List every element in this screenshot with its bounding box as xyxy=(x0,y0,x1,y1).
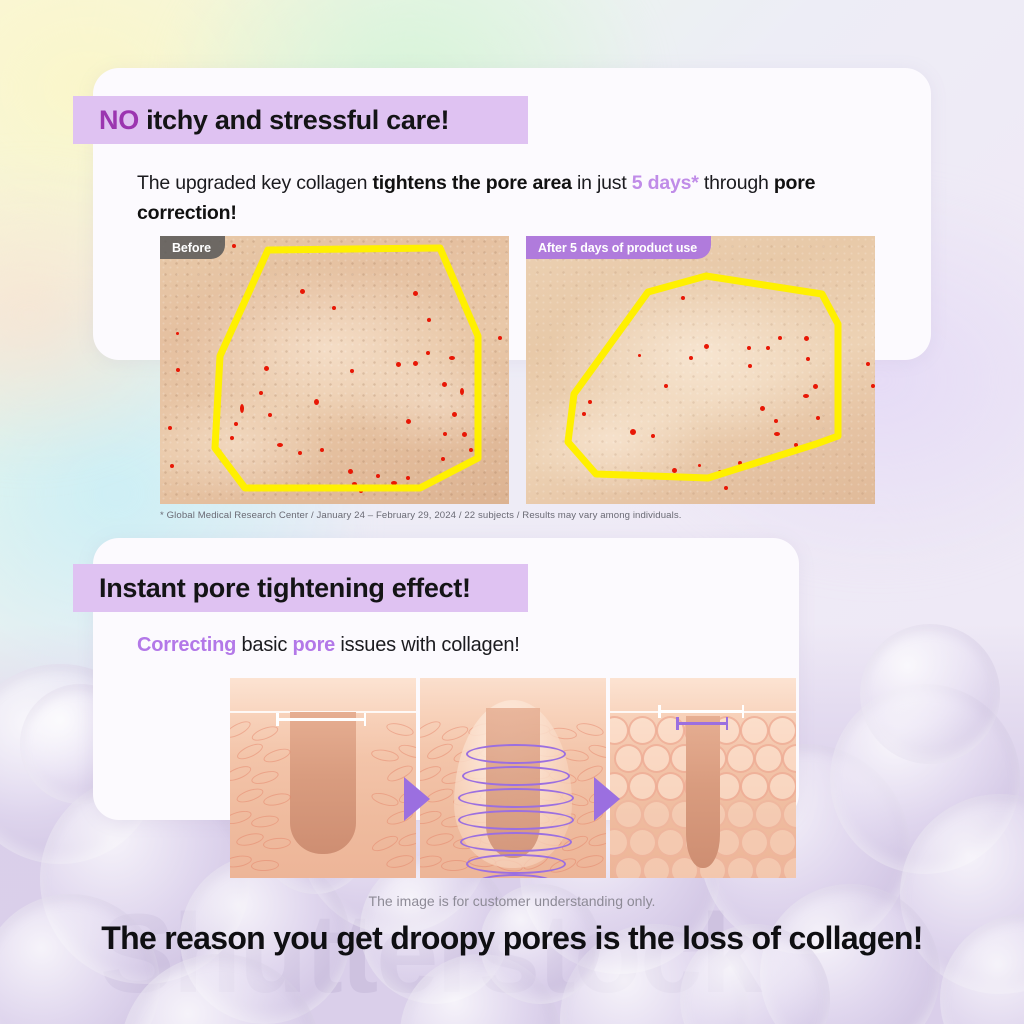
collagen-cell xyxy=(740,716,769,745)
collagen-tightening-ring xyxy=(460,832,572,852)
collagen-tightening-ring xyxy=(458,810,574,830)
heading-accent-no: NO xyxy=(99,105,139,135)
after-label-badge: After 5 days of product use xyxy=(526,236,711,259)
process-arrow-one-icon xyxy=(404,777,430,821)
collagen-cell xyxy=(656,772,685,801)
body-text-bold-tightens: tightens the pore area xyxy=(372,172,571,194)
body-text-lead: The upgraded key collagen xyxy=(137,172,372,194)
body-text-through: through xyxy=(699,172,774,194)
collagen-cell xyxy=(656,828,685,857)
collagen-cell xyxy=(642,856,671,878)
collagen-tightening-ring xyxy=(466,744,566,764)
sub-copy-correcting: Correcting xyxy=(137,634,236,656)
panel3-epidermis xyxy=(610,678,796,712)
heading-rest: itchy and stressful care! xyxy=(139,105,449,135)
collagen-cell xyxy=(740,772,769,801)
diagram-panel-open-pore xyxy=(230,678,416,878)
section-two-heading-badge: Instant pore tightening effect! xyxy=(73,564,528,612)
collagen-cell xyxy=(628,772,657,801)
collagen-cell xyxy=(642,800,671,829)
sub-copy-rest: issues with collagen! xyxy=(335,634,520,656)
promo-image-root: Shutterstock NO itchy and stressful care… xyxy=(0,0,1024,1024)
sub-copy-pore: pore xyxy=(293,634,336,656)
diagram-panel-collagen-rings xyxy=(420,678,606,878)
collagen-cell xyxy=(740,828,769,857)
collagen-cell xyxy=(628,828,657,857)
before-yellow-outline xyxy=(160,236,509,504)
collagen-cell xyxy=(768,716,796,745)
footer-headline: The reason you get droopy pores is the l… xyxy=(0,920,1024,957)
panel1-epidermis xyxy=(230,678,416,712)
section-one-heading-badge: NO itchy and stressful care! xyxy=(73,96,528,144)
section-two-sub-copy: Correcting basic pore issues with collag… xyxy=(137,634,520,657)
section-one-body-copy: The upgraded key collagen tightens the p… xyxy=(137,168,857,228)
collagen-cell xyxy=(754,800,783,829)
collagen-cell xyxy=(628,716,657,745)
collagen-cell xyxy=(642,744,671,773)
section-two-heading-text: Instant pore tightening effect! xyxy=(99,573,471,604)
before-photo: Before xyxy=(160,236,509,504)
sub-copy-basic: basic xyxy=(236,634,292,656)
before-label-badge: Before xyxy=(160,236,225,259)
panel1-width-measure xyxy=(276,718,366,721)
process-arrow-two-icon xyxy=(594,777,620,821)
after-photo: After 5 days of product use xyxy=(526,236,875,504)
collagen-cell xyxy=(754,856,783,878)
panel3-width-measure-white xyxy=(658,710,744,713)
body-text-five-days: 5 days* xyxy=(632,172,699,194)
collagen-cell xyxy=(656,716,685,745)
bubble xyxy=(860,624,1000,764)
collagen-cell xyxy=(726,856,755,878)
collagen-cell xyxy=(768,828,796,857)
panel1-pore-cavity xyxy=(290,712,356,854)
collagen-cell xyxy=(726,800,755,829)
panel3-width-measure-purple xyxy=(676,722,728,725)
diagram-panel-tightened-pore xyxy=(610,678,796,878)
clinical-study-footnote: * Global Medical Research Center / Janua… xyxy=(160,510,682,521)
collagen-cell xyxy=(726,744,755,773)
collagen-tightening-ring xyxy=(466,854,566,874)
collagen-cell xyxy=(768,772,796,801)
section-one-heading-text: NO itchy and stressful care! xyxy=(99,105,449,136)
collagen-cell xyxy=(614,744,643,773)
after-yellow-outline xyxy=(526,236,875,504)
panel3-pore-cavity xyxy=(686,716,720,868)
body-text-injust: in just xyxy=(572,172,632,194)
collagen-tightening-ring xyxy=(458,788,574,808)
collagen-cell xyxy=(614,856,643,878)
collagen-cell xyxy=(754,744,783,773)
collagen-tightening-ring xyxy=(462,766,570,786)
image-disclaimer-note: The image is for customer understanding … xyxy=(0,893,1024,909)
